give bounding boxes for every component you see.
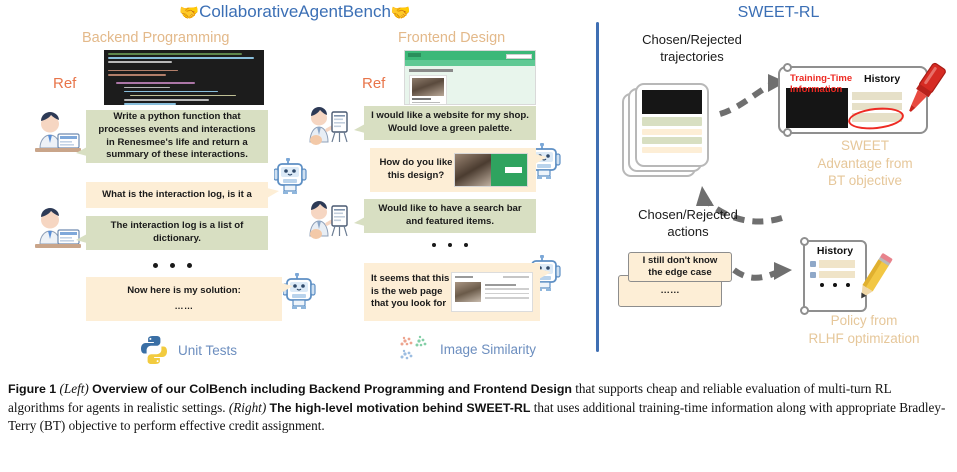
backend-eval: Unit Tests xyxy=(138,334,237,366)
frontend-ellipsis xyxy=(432,243,468,247)
robot-icon-backend-1 xyxy=(274,158,308,196)
history-scroll-with-pencil: History xyxy=(803,240,867,312)
policy-rlhf-caption: Policy from RLHF optimization xyxy=(780,312,948,347)
history-scroll-title: History xyxy=(805,245,865,257)
caption-figure-number: Figure 1 xyxy=(8,382,56,396)
design-thumbnail xyxy=(454,153,528,187)
action-placeholder-text: …… xyxy=(660,285,679,297)
caption-right-tag: (Right) xyxy=(229,400,266,415)
frontend-column-heading: Frontend Design xyxy=(398,30,505,46)
chosen-rejected-actions-label: Chosen/Rejected actions xyxy=(608,207,768,240)
human-presenter-icon-2 xyxy=(302,198,350,244)
figure-canvas: 🤝CollaborativeAgentBench🤝 Backend Progra… xyxy=(0,0,957,372)
caption-right-bold: The high-level motivation behind SWEET-R… xyxy=(270,401,531,415)
backend-message-4-text: Now here is my solution: xyxy=(127,285,241,298)
frontend-message-4: It seems that this is the web page that … xyxy=(364,263,540,321)
backend-message-3: The interaction log is a list of diction… xyxy=(86,216,268,250)
human-at-computer-icon-2 xyxy=(30,204,82,252)
backend-message-3-text: The interaction log is a list of diction… xyxy=(93,220,261,245)
frontend-eval-label: Image Similarity xyxy=(440,342,536,357)
human-presenter-icon-1 xyxy=(302,104,350,150)
backend-eval-label: Unit Tests xyxy=(178,343,237,358)
backend-message-2: What is the interaction log, is it a xyxy=(86,182,268,208)
frontend-ref-label: Ref xyxy=(362,75,385,92)
arrow-actions-to-history xyxy=(730,248,810,298)
action-bubble-text: I still don't know the edge case xyxy=(643,255,718,280)
python-code-thumbnail xyxy=(104,50,264,105)
chosen-rejected-trajectories-label: Chosen/Rejected trajectories xyxy=(612,32,772,65)
frontend-message-2: How do you like this design? xyxy=(370,148,536,192)
frontend-message-3: Would like to have a search bar and feat… xyxy=(364,199,536,233)
frontend-message-3-text: Would like to have a search bar and feat… xyxy=(371,203,529,228)
scikit-learn-logo-icon xyxy=(396,334,432,364)
handshake-emoji-right: 🤝 xyxy=(391,5,411,22)
backend-message-4-subtext: …… xyxy=(175,301,194,313)
caption-left-tag: (Left) xyxy=(60,381,89,396)
backend-message-1: Write a python function that processes e… xyxy=(86,110,268,163)
figure-caption: Figure 1 (Left) Overview of our ColBench… xyxy=(8,380,949,436)
colbench-title-text: CollaborativeAgentBench xyxy=(199,2,391,21)
sweet-rl-title: SWEET-RL xyxy=(600,4,957,22)
backend-message-4: Now here is my solution: …… xyxy=(86,277,282,321)
frontend-message-4-text: It seems that this is the web page that … xyxy=(371,273,451,311)
training-time-information-annotation: Training-Time Information xyxy=(790,74,852,96)
backend-ref-label: Ref xyxy=(53,75,76,92)
backend-ellipsis xyxy=(153,263,192,268)
panel-divider xyxy=(596,22,599,352)
frontend-message-1-text: I would like a website for my shop. Woul… xyxy=(371,110,529,135)
backend-column-heading: Backend Programming xyxy=(82,30,230,46)
trajectory-card-stack xyxy=(622,83,722,183)
python-logo-icon xyxy=(138,334,170,366)
frontend-message-1: I would like a website for my shop. Woul… xyxy=(364,106,536,140)
handshake-emoji-left: 🤝 xyxy=(179,5,199,22)
webpage-thumbnail xyxy=(451,272,533,312)
colbench-title: 🤝CollaborativeAgentBench🤝 xyxy=(0,2,590,23)
caption-left-bold: Overview of our ColBench including Backe… xyxy=(92,382,572,396)
frontend-message-2-text: How do you like this design? xyxy=(378,157,454,182)
human-at-computer-icon-1 xyxy=(30,108,82,156)
frontend-eval: Image Similarity xyxy=(396,334,536,364)
action-text-bubble: I still don't know the edge case xyxy=(628,252,732,282)
history-scroll-dots xyxy=(805,283,865,287)
history-annotation: History xyxy=(864,73,900,85)
backend-message-2-text: What is the interaction log, is it a xyxy=(102,189,252,202)
website-mockup-thumbnail xyxy=(404,50,536,105)
sweet-advantage-caption: SWEET Advantage from BT objective xyxy=(790,137,940,190)
backend-message-1-text: Write a python function that processes e… xyxy=(93,111,261,162)
